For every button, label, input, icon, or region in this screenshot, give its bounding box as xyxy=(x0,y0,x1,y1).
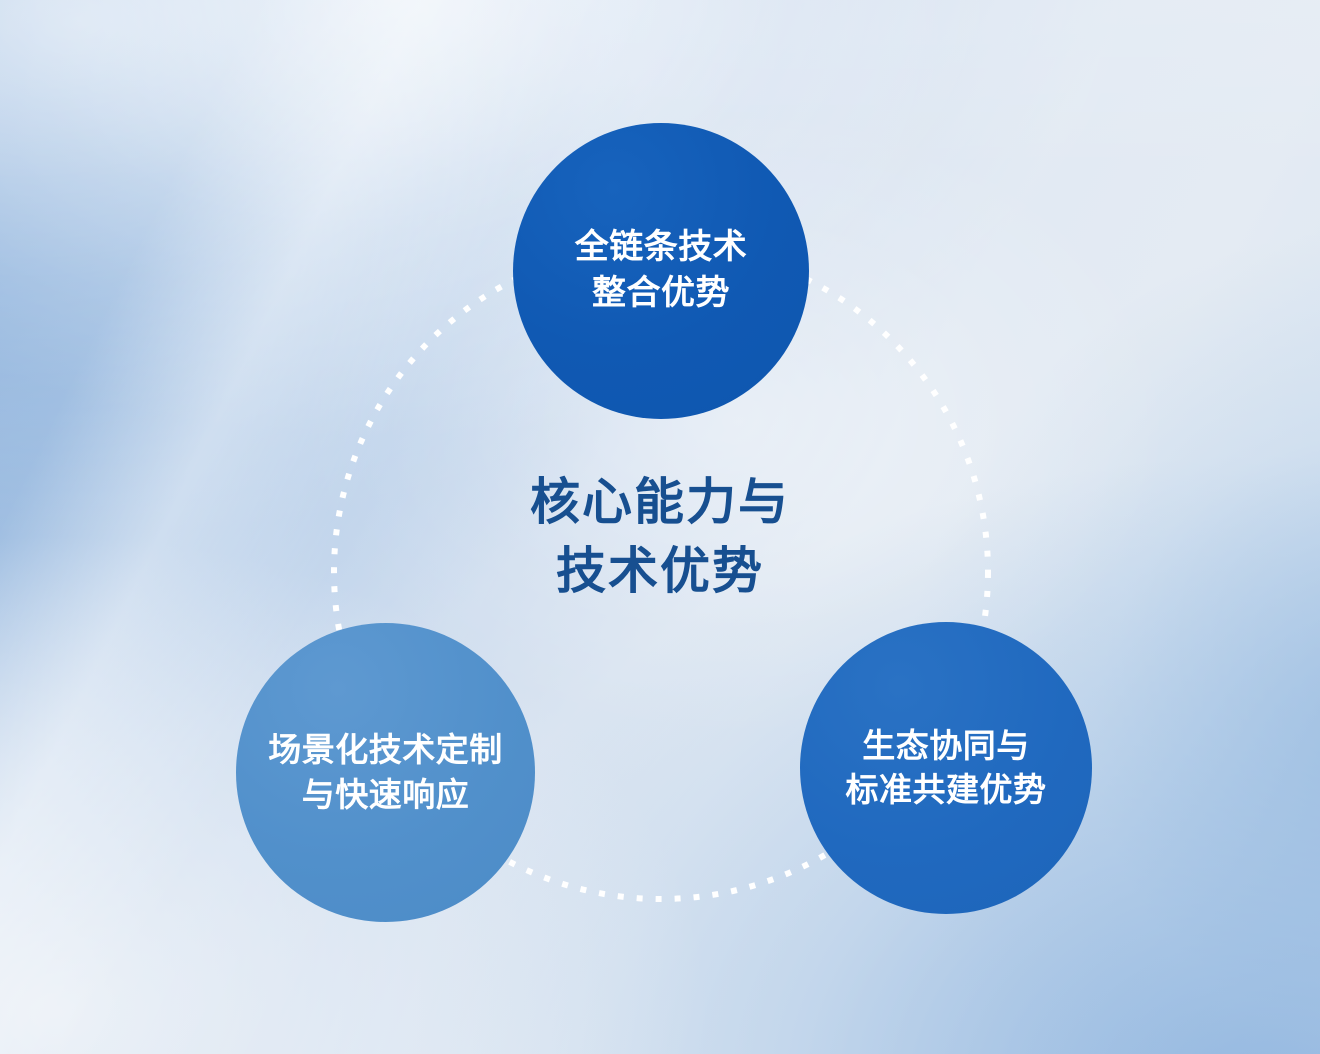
node-right-ecosystem-standards[interactable]: 生态协同与 标准共建优势 xyxy=(800,622,1092,914)
node-top-full-chain-technology[interactable]: 全链条技术 整合优势 xyxy=(513,123,809,419)
center-heading: 核心能力与 技术优势 xyxy=(0,468,1320,606)
node-left-scenario-customization[interactable]: 场景化技术定制 与快速响应 xyxy=(236,623,535,922)
infographic-canvas: 全链条技术 整合优势 场景化技术定制 与快速响应 生态协同与 标准共建优势 核心… xyxy=(0,0,1320,1054)
node-left-label: 场景化技术定制 与快速响应 xyxy=(254,728,517,816)
node-right-label: 生态协同与 标准共建优势 xyxy=(832,724,1061,812)
node-top-label: 全链条技术 整合优势 xyxy=(561,225,762,316)
